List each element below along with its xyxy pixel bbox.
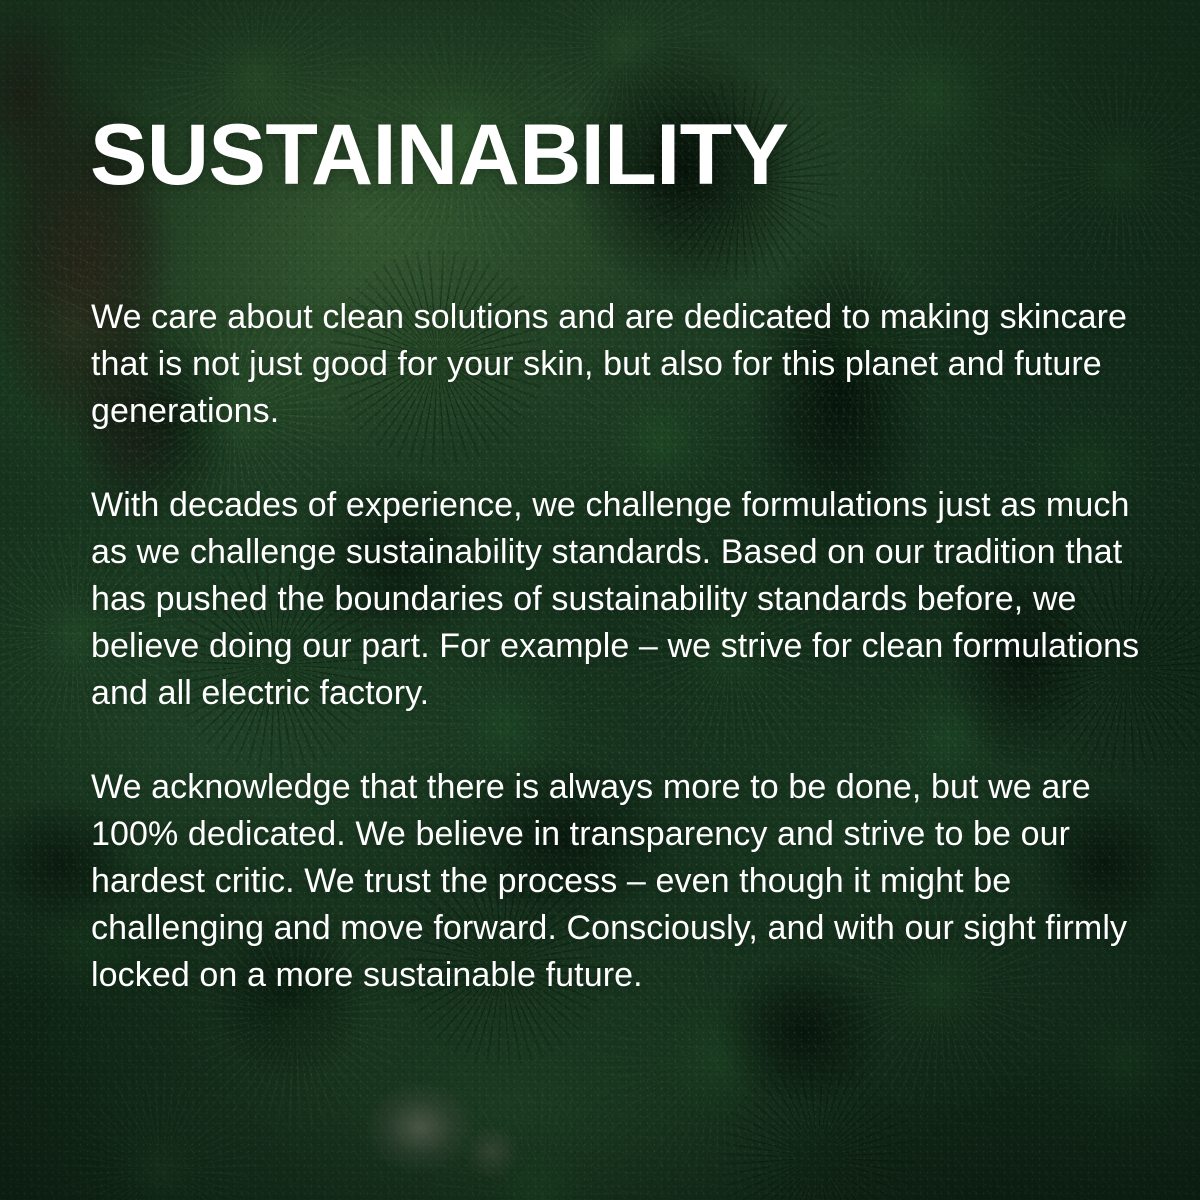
content-column: SUSTAINABILITY We care about clean solut… [90, 0, 1150, 1200]
paragraph-3: We acknowledge that there is always more… [91, 764, 1146, 999]
paragraph-2: With decades of experience, we challenge… [91, 482, 1146, 717]
body-copy: We care about clean solutions and are de… [91, 294, 1146, 999]
paragraph-1: We care about clean solutions and are de… [91, 294, 1146, 435]
sustainability-page: SUSTAINABILITY We care about clean solut… [0, 0, 1200, 1200]
page-title: SUSTAINABILITY [90, 112, 789, 198]
